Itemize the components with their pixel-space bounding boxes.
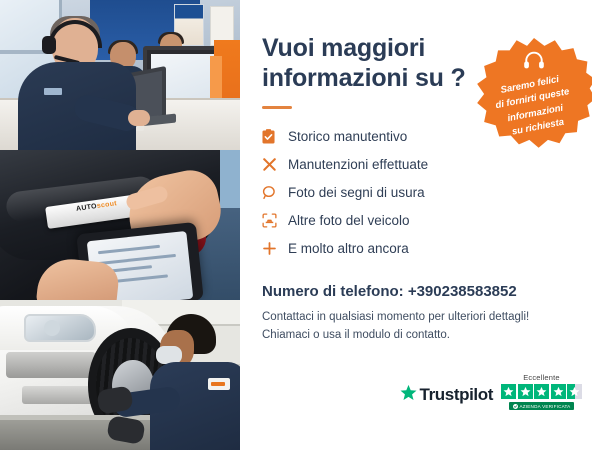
page-title-line-2: informazioni su ? <box>262 64 466 92</box>
star-filled-3 <box>534 384 549 399</box>
star-filled-1 <box>501 384 516 399</box>
feature-item-altre-foto-veicolo: Altre foto del veicolo <box>262 207 578 233</box>
wrench-cross-icon <box>262 157 288 172</box>
trustpilot-star-icon <box>400 384 417 406</box>
phone-number-label[interactable]: Numero di telefono: +390238583852 <box>262 283 578 300</box>
contact-subtext: Contattaci in qualsiasi momento per ulte… <box>262 309 578 345</box>
verified-business-badge: AZIENDA VERIFICATA <box>509 402 575 410</box>
feature-label: Foto dei segni di usura <box>288 185 425 200</box>
title-underline-divider <box>262 106 292 109</box>
star-filled-4 <box>551 384 566 399</box>
callout-badge: Saremo felici di fornirti queste informa… <box>476 38 592 150</box>
photo-paint-thickness-gauge-on-bumper: AUTOscout <box>0 150 240 300</box>
content-panel: Saremo felici di fornirti queste informa… <box>240 0 600 450</box>
contact-subtext-line-2: Chiamaci o usa il modulo di contatto. <box>262 329 450 341</box>
clipboard-check-icon <box>262 129 288 144</box>
car-frame-photo-icon <box>262 213 288 228</box>
check-circle-icon <box>513 404 518 409</box>
trustpilot-rating-label: Eccellente <box>523 373 560 382</box>
trustpilot-logo: Trustpilot <box>400 384 493 410</box>
feature-label: Storico manutentivo <box>288 129 407 144</box>
contact-subtext-line-1: Contattaci in qualsiasi momento per ulte… <box>262 311 529 323</box>
feature-item-foto-segni-usura: Foto dei segni di usura <box>262 179 578 205</box>
feature-label: E molto altro ancora <box>288 241 409 256</box>
feature-label: Altre foto del veicolo <box>288 213 410 228</box>
feature-item-manutenzioni-effettuate: Manutenzioni effettuate <box>262 151 578 177</box>
photo-column: AUTOscout <box>0 0 240 450</box>
plus-icon <box>262 241 288 256</box>
feature-label: Manutenzioni effettuate <box>288 157 428 172</box>
trustpilot-rating[interactable]: Trustpilot Eccellente <box>400 373 582 410</box>
feature-item-molto-altro-ancora: E molto altro ancora <box>262 235 578 261</box>
verified-business-label: AZIENDA VERIFICATA <box>520 404 571 409</box>
trustpilot-brand-name: Trustpilot <box>420 385 493 405</box>
photo-mechanic-inspecting-wheel <box>0 300 240 450</box>
star-half-5 <box>567 384 582 399</box>
photo-call-center-agent-with-headset <box>0 0 240 150</box>
magnifier-icon <box>262 185 288 200</box>
page-title-line-1: Vuoi maggiori <box>262 34 425 62</box>
promo-card: AUTOscout <box>0 0 600 450</box>
trustpilot-stars <box>501 384 582 399</box>
star-filled-2 <box>518 384 533 399</box>
trustpilot-score-block: Eccellente <box>501 373 582 410</box>
headset-icon <box>523 50 545 75</box>
